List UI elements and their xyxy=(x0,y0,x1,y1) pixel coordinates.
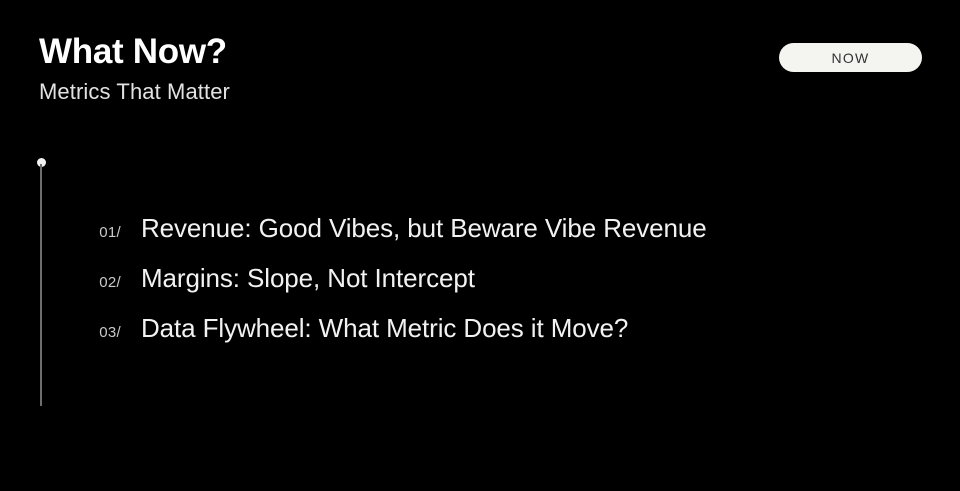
slide-header: What Now? Metrics That Matter xyxy=(39,30,659,106)
list-item-label: Margins: Slope, Not Intercept xyxy=(141,263,475,294)
list-item-number: 02/ xyxy=(0,274,121,291)
list-item-number: 01/ xyxy=(0,224,121,241)
status-badge-label: NOW xyxy=(831,51,869,65)
list-item: 03/ Data Flywheel: What Metric Does it M… xyxy=(0,313,960,363)
page-subtitle: Metrics That Matter xyxy=(39,78,659,106)
status-badge: NOW xyxy=(779,43,922,72)
list-item-label: Revenue: Good Vibes, but Beware Vibe Rev… xyxy=(141,213,707,244)
agenda-list: 01/ Revenue: Good Vibes, but Beware Vibe… xyxy=(0,213,960,363)
list-item: 02/ Margins: Slope, Not Intercept xyxy=(0,263,960,313)
list-item-number: 03/ xyxy=(0,324,121,341)
presentation-slide: What Now? Metrics That Matter NOW 01/ Re… xyxy=(0,0,960,491)
list-item: 01/ Revenue: Good Vibes, but Beware Vibe… xyxy=(0,213,960,263)
list-item-label: Data Flywheel: What Metric Does it Move? xyxy=(141,313,628,344)
page-title: What Now? xyxy=(39,30,659,74)
